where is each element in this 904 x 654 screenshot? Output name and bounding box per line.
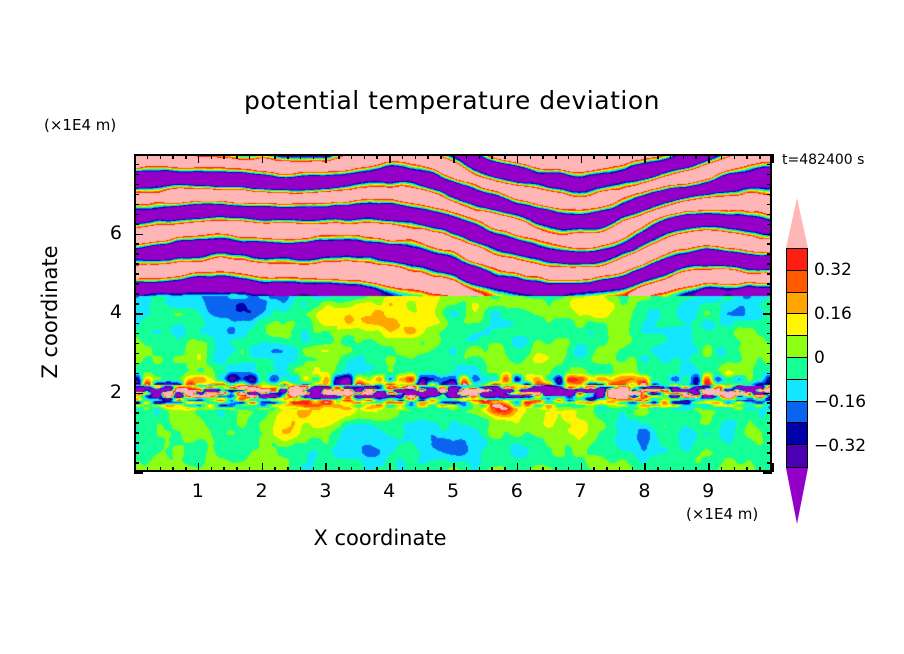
colorbar-label-2: 0 <box>814 348 825 368</box>
x-tick-top <box>274 154 276 159</box>
y-tick-right <box>767 323 772 325</box>
colorbar-label-4: −0.32 <box>814 436 866 456</box>
x-tick-minor <box>581 463 583 472</box>
x-tick-minor <box>427 467 429 472</box>
x-axis-title: X coordinate <box>0 526 760 550</box>
x-tick-top <box>325 154 327 163</box>
x-tick-minor <box>325 463 327 472</box>
x-tick-minor <box>185 467 187 472</box>
x-tick-top <box>555 154 557 159</box>
y-tick-right <box>767 363 772 365</box>
x-tick-minor <box>555 467 557 472</box>
x-tick-top <box>236 154 238 159</box>
y-tick-right <box>767 402 772 404</box>
x-tick-top <box>530 154 532 159</box>
x-tick-minor <box>619 467 621 472</box>
x-tick-minor <box>313 467 315 472</box>
y-tick-left <box>134 333 139 335</box>
x-tick-label: 8 <box>629 480 659 502</box>
x-tick-top <box>287 154 289 159</box>
y-tick-right <box>767 303 772 305</box>
y-tick-right <box>767 283 772 285</box>
x-tick-top <box>644 154 646 163</box>
x-tick-minor <box>479 467 481 472</box>
x-tick-top <box>695 154 697 159</box>
x-tick-minor <box>708 463 710 472</box>
x-tick-top <box>683 154 685 159</box>
x-tick-top <box>670 154 672 159</box>
x-tick-minor <box>491 467 493 472</box>
x-tick-minor <box>695 467 697 472</box>
x-tick-label: 6 <box>502 480 532 502</box>
x-tick-top <box>542 154 544 159</box>
x-tick-top <box>211 154 213 159</box>
y-tick-right <box>767 273 772 275</box>
y-axis-units: (×1E4 m) <box>44 116 116 134</box>
x-tick-top <box>479 154 481 159</box>
x-tick-top <box>453 154 455 163</box>
y-tick-left <box>134 363 139 365</box>
y-tick-right <box>767 383 772 385</box>
x-tick-minor <box>351 467 353 472</box>
x-tick-top <box>759 154 761 159</box>
colorbar-band-9 <box>787 445 807 467</box>
x-tick-minor <box>338 467 340 472</box>
y-tick-right <box>767 333 772 335</box>
y-tick-right <box>767 412 772 414</box>
x-tick-minor <box>160 467 162 472</box>
y-tick-right <box>767 432 772 434</box>
x-tick-top <box>223 154 225 159</box>
colorbar-label-1: 0.16 <box>814 304 852 324</box>
time-annotation: t=482400 s <box>782 152 864 168</box>
y-tick-right <box>763 313 772 315</box>
y-tick-left <box>134 402 139 404</box>
x-tick-minor <box>530 467 532 472</box>
y-tick-right <box>767 214 772 216</box>
colorbar-band-0 <box>787 249 807 271</box>
x-tick-minor <box>759 467 761 472</box>
y-axis-title: Z coordinate <box>38 202 62 422</box>
x-tick-top <box>402 154 404 159</box>
y-tick-right <box>767 184 772 186</box>
y-tick-left <box>134 293 139 295</box>
x-tick-top <box>147 154 149 159</box>
x-tick-top <box>338 154 340 159</box>
y-tick-right <box>763 154 772 156</box>
x-tick-minor <box>172 467 174 472</box>
y-tick-right <box>767 204 772 206</box>
x-tick-label: 1 <box>183 480 213 502</box>
colorbar-band-8 <box>787 423 807 445</box>
x-tick-minor <box>274 467 276 472</box>
colorbar-band-7 <box>787 402 807 424</box>
x-tick-top <box>389 154 391 163</box>
x-tick-minor <box>721 467 723 472</box>
y-tick-left <box>134 154 143 156</box>
colorbar-band-4 <box>787 336 807 358</box>
colorbar-over-arrow <box>786 198 808 248</box>
x-tick-minor <box>734 467 736 472</box>
x-tick-minor <box>402 467 404 472</box>
y-tick-right <box>763 393 772 395</box>
x-tick-minor <box>644 463 646 472</box>
x-tick-minor <box>198 463 200 472</box>
y-tick-left <box>134 432 139 434</box>
y-tick-right <box>767 243 772 245</box>
y-tick-left <box>134 353 139 355</box>
x-tick-label: 2 <box>247 480 277 502</box>
x-tick-top <box>313 154 315 159</box>
y-tick-right <box>767 174 772 176</box>
contour-plot-area <box>134 154 772 472</box>
x-tick-minor <box>134 463 136 472</box>
y-tick-right <box>763 234 772 236</box>
x-tick-top <box>517 154 519 163</box>
y-tick-left <box>134 204 139 206</box>
y-tick-right <box>767 263 772 265</box>
x-tick-top <box>466 154 468 159</box>
y-tick-left <box>134 472 143 474</box>
x-tick-minor <box>772 463 774 472</box>
x-tick-minor <box>746 467 748 472</box>
x-tick-top <box>772 154 774 163</box>
colorbar-label-0: 0.32 <box>814 260 852 280</box>
x-tick-top <box>593 154 595 159</box>
x-tick-top <box>160 154 162 159</box>
x-tick-top <box>632 154 634 159</box>
x-tick-label: 7 <box>566 480 596 502</box>
x-tick-top <box>606 154 608 159</box>
y-tick-right <box>767 253 772 255</box>
y-tick-left <box>134 383 139 385</box>
x-tick-top <box>568 154 570 159</box>
y-tick-label: 6 <box>92 222 122 244</box>
y-tick-label: 4 <box>92 301 122 323</box>
colorbar-band-6 <box>787 380 807 402</box>
colorbar-band-2 <box>787 293 807 315</box>
x-tick-minor <box>453 463 455 472</box>
y-tick-right <box>767 194 772 196</box>
x-tick-minor <box>683 467 685 472</box>
x-tick-top <box>619 154 621 159</box>
x-tick-top <box>504 154 506 159</box>
y-tick-left <box>134 412 139 414</box>
x-tick-label: 4 <box>374 480 404 502</box>
x-tick-top <box>198 154 200 163</box>
y-tick-left <box>134 422 139 424</box>
x-tick-label: 3 <box>310 480 340 502</box>
y-tick-right <box>767 462 772 464</box>
colorbar-band-3 <box>787 314 807 336</box>
x-tick-top <box>721 154 723 159</box>
x-tick-top <box>364 154 366 159</box>
x-tick-top <box>172 154 174 159</box>
y-tick-right <box>767 224 772 226</box>
y-tick-left <box>134 194 139 196</box>
x-tick-minor <box>389 463 391 472</box>
y-tick-right <box>767 442 772 444</box>
y-tick-left <box>134 243 139 245</box>
x-tick-top <box>657 154 659 159</box>
x-tick-top <box>734 154 736 159</box>
x-tick-minor <box>249 467 251 472</box>
y-tick-left <box>134 263 139 265</box>
y-tick-left <box>134 442 139 444</box>
x-tick-minor <box>517 463 519 472</box>
x-tick-minor <box>632 467 634 472</box>
x-tick-top <box>351 154 353 159</box>
y-tick-left <box>134 184 139 186</box>
x-tick-top <box>427 154 429 159</box>
colorbar-band-1 <box>787 271 807 293</box>
colorbar-label-3: −0.16 <box>814 392 866 412</box>
y-tick-label: 2 <box>92 381 122 403</box>
x-tick-top <box>440 154 442 159</box>
x-tick-top <box>185 154 187 159</box>
y-tick-right <box>767 422 772 424</box>
x-tick-minor <box>147 467 149 472</box>
x-tick-minor <box>236 467 238 472</box>
y-tick-left <box>134 234 143 236</box>
x-tick-minor <box>593 467 595 472</box>
x-tick-minor <box>376 467 378 472</box>
y-tick-left <box>134 323 139 325</box>
x-tick-minor <box>415 467 417 472</box>
x-tick-minor <box>262 463 264 472</box>
x-tick-top <box>376 154 378 159</box>
x-tick-top <box>746 154 748 159</box>
y-tick-right <box>763 472 772 474</box>
y-tick-left <box>134 273 139 275</box>
colorbar <box>786 248 808 468</box>
x-tick-label: 9 <box>693 480 723 502</box>
x-tick-top <box>300 154 302 159</box>
x-tick-minor <box>223 467 225 472</box>
x-tick-minor <box>300 467 302 472</box>
y-tick-left <box>134 373 139 375</box>
x-tick-label: 5 <box>438 480 468 502</box>
colorbar-under-arrow <box>786 468 808 524</box>
x-tick-minor <box>657 467 659 472</box>
y-tick-left <box>134 343 139 345</box>
x-axis-units: (×1E4 m) <box>686 505 758 523</box>
contour-canvas <box>136 156 770 470</box>
x-tick-minor <box>542 467 544 472</box>
x-tick-minor <box>670 467 672 472</box>
y-tick-right <box>767 293 772 295</box>
x-tick-minor <box>606 467 608 472</box>
x-tick-minor <box>466 467 468 472</box>
colorbar-band-5 <box>787 358 807 380</box>
x-tick-minor <box>568 467 570 472</box>
y-tick-right <box>767 353 772 355</box>
y-tick-left <box>134 164 139 166</box>
y-tick-left <box>134 462 139 464</box>
x-tick-minor <box>504 467 506 472</box>
y-tick-left <box>134 283 139 285</box>
y-tick-right <box>767 452 772 454</box>
y-tick-left <box>134 224 139 226</box>
y-tick-left <box>134 393 143 395</box>
x-tick-minor <box>440 467 442 472</box>
x-tick-top <box>415 154 417 159</box>
y-tick-left <box>134 214 139 216</box>
y-tick-right <box>767 343 772 345</box>
x-tick-top <box>262 154 264 163</box>
x-tick-minor <box>287 467 289 472</box>
y-tick-right <box>767 164 772 166</box>
y-tick-left <box>134 303 139 305</box>
x-tick-top <box>249 154 251 159</box>
x-tick-top <box>491 154 493 159</box>
y-tick-left <box>134 253 139 255</box>
y-tick-left <box>134 174 139 176</box>
page-title: potential temperature deviation <box>0 86 904 115</box>
x-tick-top <box>708 154 710 163</box>
y-tick-left <box>134 452 139 454</box>
x-tick-minor <box>364 467 366 472</box>
y-tick-right <box>767 373 772 375</box>
x-tick-top <box>581 154 583 163</box>
x-tick-minor <box>211 467 213 472</box>
y-tick-left <box>134 313 143 315</box>
